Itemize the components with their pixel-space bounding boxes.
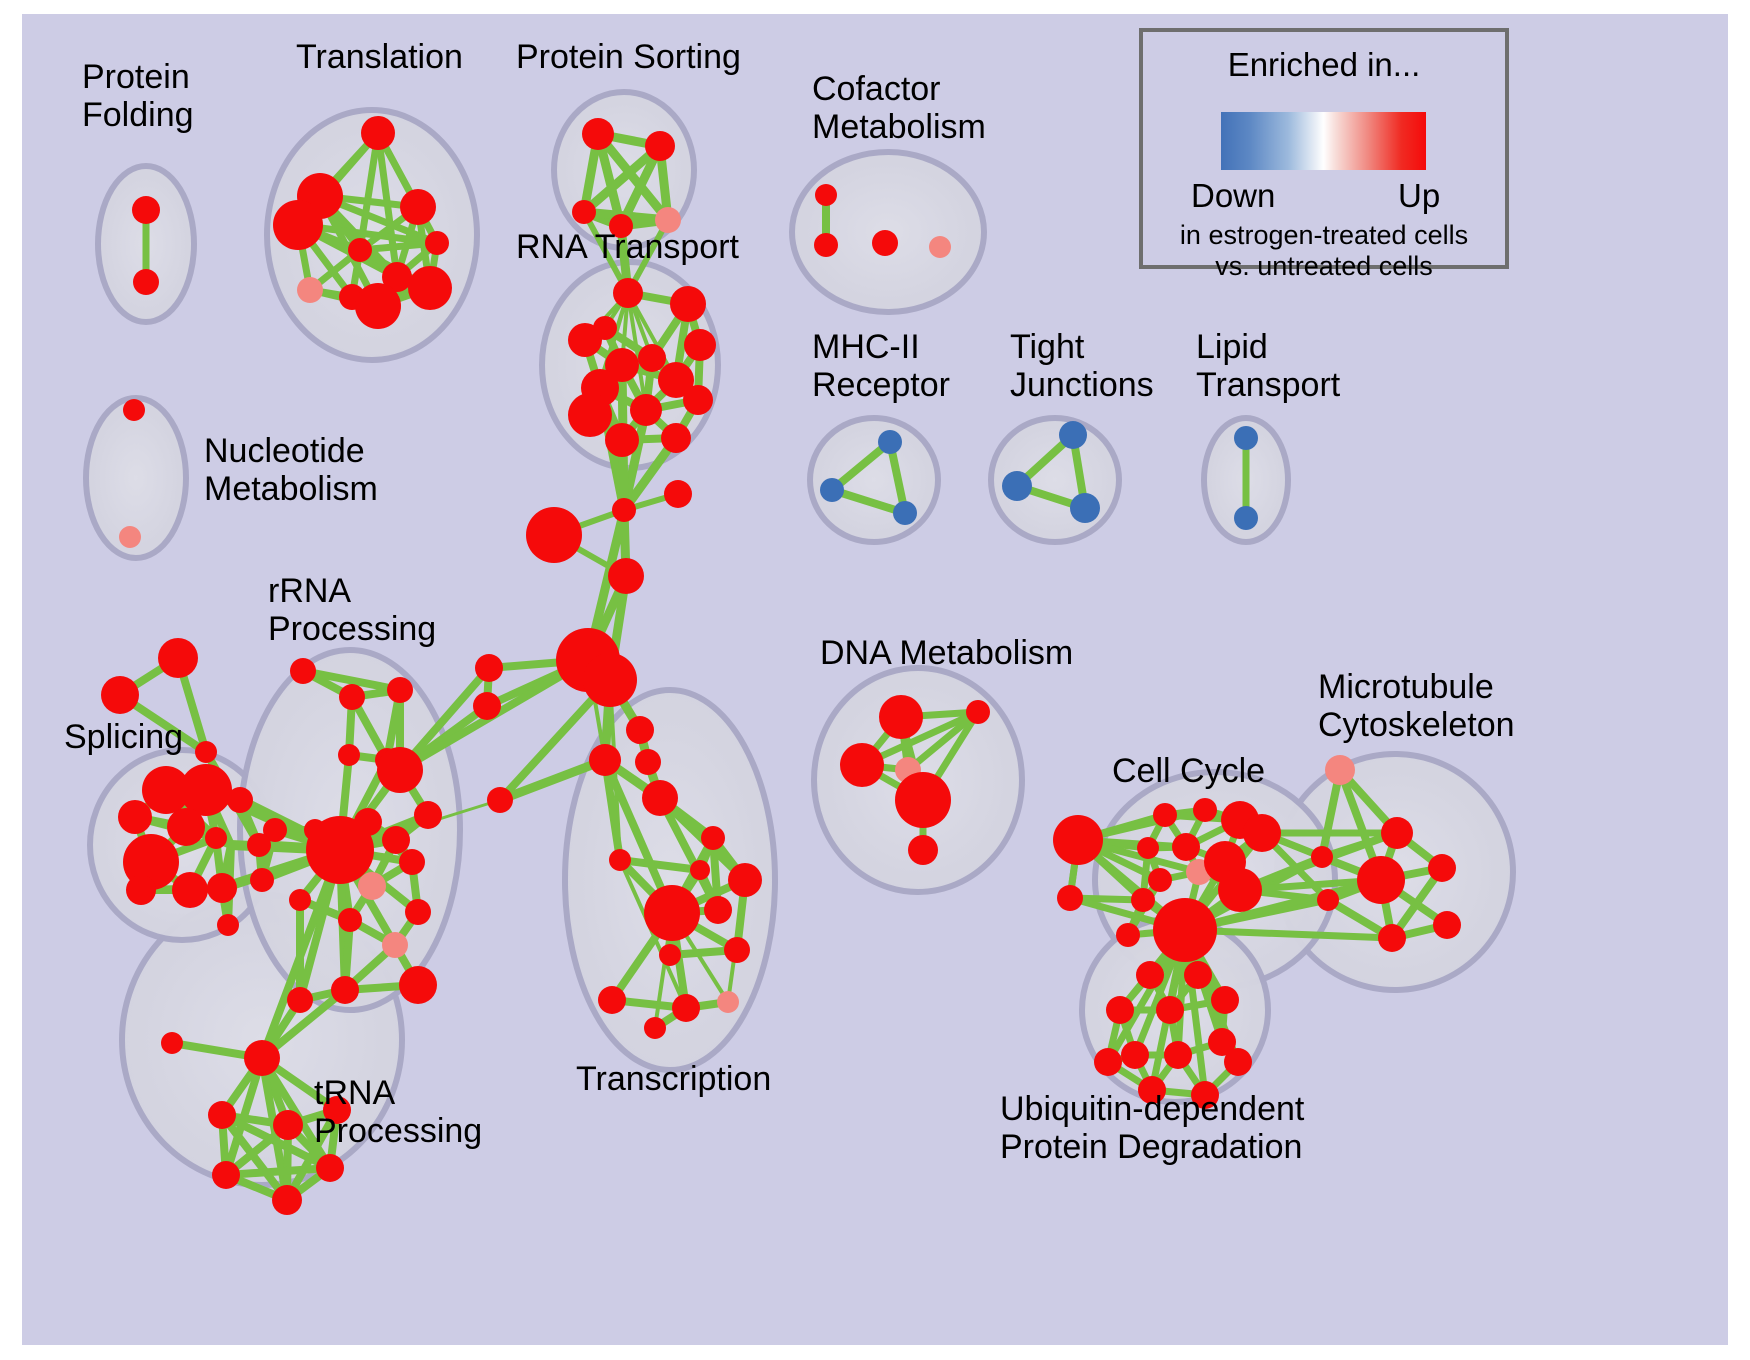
label-transcription: Transcription [576, 1060, 771, 1098]
label-microtubule-cytoskeleton: Microtubule Cytoskeleton [1318, 668, 1515, 744]
label-splicing: Splicing [64, 718, 183, 756]
legend-subtitle-line2: vs. untreated cells [1143, 251, 1505, 282]
label-protein-folding: Protein Folding [82, 58, 194, 134]
label-mhc-ii-receptor: MHC-II Receptor [812, 328, 950, 404]
legend-up-label: Up [1398, 177, 1440, 215]
label-dna-metabolism: DNA Metabolism [820, 634, 1073, 672]
label-lipid-transport: Lipid Transport [1196, 328, 1340, 404]
figure-canvas: .cl{fill:url(#cg);stroke:#a9a8c5;stroke-… [0, 0, 1750, 1360]
label-protein-sorting: Protein Sorting [516, 38, 741, 76]
label-ubiquitin-degradation: Ubiquitin-dependent Protein Degradation [1000, 1090, 1304, 1166]
label-rna-transport: RNA Transport [516, 228, 739, 266]
legend-title: Enriched in... [1143, 46, 1505, 84]
label-cofactor-metabolism: Cofactor Metabolism [812, 70, 986, 146]
label-cell-cycle: Cell Cycle [1112, 752, 1265, 790]
label-nucleotide-metabolism: Nucleotide Metabolism [204, 432, 378, 508]
label-trna-processing: tRNA Processing [314, 1074, 482, 1150]
legend-box: Enriched in... Down Up in estrogen-treat… [1139, 28, 1509, 269]
legend-subtitle-line1: in estrogen-treated cells [1143, 220, 1505, 251]
label-tight-junctions: Tight Junctions [1010, 328, 1154, 404]
label-rrna-processing: rRNA Processing [268, 572, 436, 648]
legend-down-label: Down [1191, 177, 1275, 215]
label-translation: Translation [296, 38, 463, 76]
color-scale-bar [1221, 112, 1426, 170]
